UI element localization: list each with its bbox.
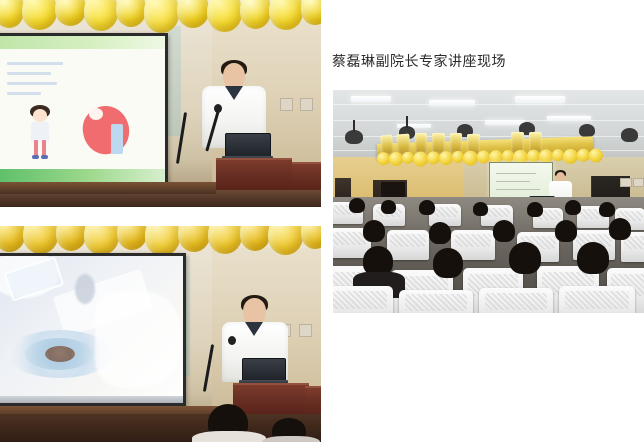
slide-highlight-wash xyxy=(95,292,181,388)
wall-outlet-right xyxy=(300,98,313,111)
seat xyxy=(559,286,635,313)
slide-surface xyxy=(0,36,165,182)
attendee-head xyxy=(493,220,515,242)
balloon xyxy=(145,226,181,256)
spotlight-arm xyxy=(353,120,355,132)
balloon xyxy=(0,226,25,252)
audience-shoulders xyxy=(192,431,266,442)
microphone-head xyxy=(228,336,236,345)
attendee-head xyxy=(555,220,577,242)
wall-switch-right xyxy=(633,178,644,187)
balloon xyxy=(268,226,303,255)
spotlight xyxy=(621,128,638,142)
slide-cartoon-girl-shoe xyxy=(41,155,48,159)
balloon xyxy=(84,0,118,31)
screen-text-line xyxy=(496,173,536,174)
balloon xyxy=(240,226,271,251)
balloon xyxy=(177,0,209,28)
slide-blue-figure xyxy=(111,124,123,154)
screen-text-line xyxy=(496,181,530,182)
spotlight xyxy=(579,124,595,137)
attendee-head xyxy=(433,248,463,278)
ceiling-light-panel xyxy=(351,96,391,102)
photo-lecture-slide-cartoon xyxy=(0,0,321,207)
balloon xyxy=(0,0,24,28)
seat xyxy=(333,286,393,313)
slide-heart-highlight xyxy=(89,108,103,120)
seat xyxy=(399,290,473,313)
photo-lecture-slide-eye xyxy=(0,226,321,442)
balloon xyxy=(240,0,271,29)
balloon xyxy=(269,0,303,30)
balloon xyxy=(56,226,87,251)
balloon xyxy=(208,226,242,254)
wall-green-strip xyxy=(168,26,181,136)
slide-cartoon-girl-leg xyxy=(34,140,38,156)
slide-cartoon-girl-leg xyxy=(42,140,46,156)
spotlight-arm xyxy=(406,116,408,128)
slide-text-line xyxy=(7,82,57,85)
photo-auditorium-wide xyxy=(333,90,644,313)
slide-text-line xyxy=(7,72,51,75)
attendee-head xyxy=(419,200,435,215)
attendee-head xyxy=(363,220,385,242)
attendee-head xyxy=(609,218,631,240)
slide-heart-graphic xyxy=(79,102,134,159)
attendee-head xyxy=(565,200,581,215)
balloon xyxy=(144,0,180,33)
wall-outlet-left xyxy=(280,98,293,111)
balloon xyxy=(301,226,321,249)
balloon xyxy=(178,226,210,252)
projection-screen xyxy=(0,33,168,185)
slide-band-bottom xyxy=(0,169,165,182)
slide-taskbar xyxy=(0,396,183,403)
slide-text-line xyxy=(7,62,63,65)
ceiling-light-panel xyxy=(429,100,475,106)
seat xyxy=(479,288,553,313)
slide-band-top xyxy=(0,36,165,49)
attendee-head xyxy=(527,202,543,217)
balloon-garland xyxy=(0,226,321,254)
wall-outlet-right xyxy=(299,324,312,337)
attendee-head xyxy=(381,200,396,214)
wall-switch-left xyxy=(620,178,632,187)
balloon xyxy=(301,0,321,25)
attendee-head xyxy=(509,242,541,274)
balloon-garland xyxy=(0,0,321,32)
attendee-head xyxy=(349,198,365,213)
ceiling-light-panel xyxy=(515,96,565,103)
ceiling-light-panel xyxy=(485,120,525,125)
balloon xyxy=(55,0,86,26)
audience-shoulders xyxy=(262,436,320,442)
seat xyxy=(387,230,429,260)
projection-screen xyxy=(0,253,186,406)
attendee-head xyxy=(577,242,609,274)
slide-shadow-oval xyxy=(75,274,95,304)
stage-edge xyxy=(0,182,216,194)
balloon xyxy=(84,226,119,255)
ceiling-grid-line xyxy=(333,104,644,105)
slide-eye-pupil xyxy=(45,346,75,362)
balloon xyxy=(116,0,146,27)
attendee-head xyxy=(599,202,615,217)
slide-cartoon-girl-body xyxy=(31,122,49,142)
balloon xyxy=(117,226,147,250)
page-root: 蔡磊琳副院长专家讲座现场 xyxy=(0,0,644,442)
screen-text-line xyxy=(496,189,540,190)
attendee-head xyxy=(429,222,451,244)
spotlight xyxy=(345,130,363,144)
ceiling-light-panel xyxy=(547,116,591,121)
slide-cartoon-girl-shoe xyxy=(32,155,39,159)
slide-text-line xyxy=(7,92,41,95)
presenter-head xyxy=(243,298,266,325)
photo-caption: 蔡磊琳副院长专家讲座现场 xyxy=(332,52,506,72)
balloon xyxy=(22,0,57,30)
balloon xyxy=(207,0,242,32)
slide-cartoon-girl-face xyxy=(33,109,47,122)
attendee-head xyxy=(473,202,488,216)
slide-surface-eye xyxy=(0,256,183,403)
balloon xyxy=(23,226,58,254)
